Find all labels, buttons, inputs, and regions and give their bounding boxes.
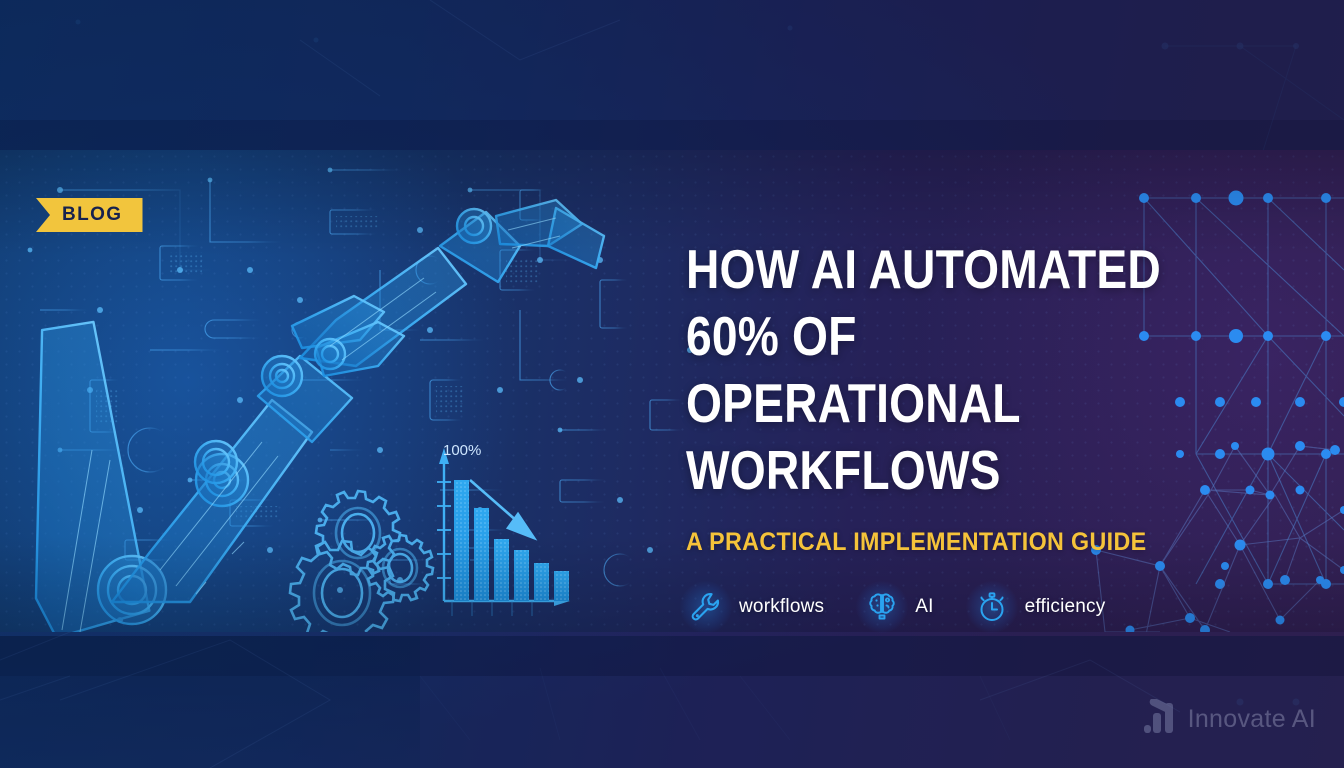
topic-tag-list: workflows AI [686,587,1286,627]
topic-tag-ai[interactable]: AI [862,587,933,627]
blog-ribbon-badge[interactable]: BLOG [36,198,143,232]
wrench-icon [686,587,726,627]
brain-icon [862,587,902,627]
blog-ribbon-label: BLOG [62,204,123,226]
topic-tag-label: AI [915,596,933,618]
innovate-ai-logo-mark [1143,699,1177,740]
topic-tag-label: workflows [739,596,824,618]
hero-banner: 100% [0,0,1344,768]
brand-name: Innovate AI [1188,705,1316,734]
hero-text-column: HOW AI AUTOMATED 60% OF OPERATIONAL WORK… [686,236,1286,627]
brand-watermark: Innovate AI [1143,699,1316,740]
topic-tag-workflows[interactable]: workflows [686,587,824,627]
topic-tag-label: efficiency [1025,596,1106,618]
stopwatch-icon [972,587,1012,627]
page-subtitle: A PRACTICAL IMPLEMENTATION GUIDE [686,528,1244,557]
page-title: HOW AI AUTOMATED 60% OF OPERATIONAL WORK… [686,236,1190,504]
topic-tag-efficiency[interactable]: efficiency [972,587,1106,627]
